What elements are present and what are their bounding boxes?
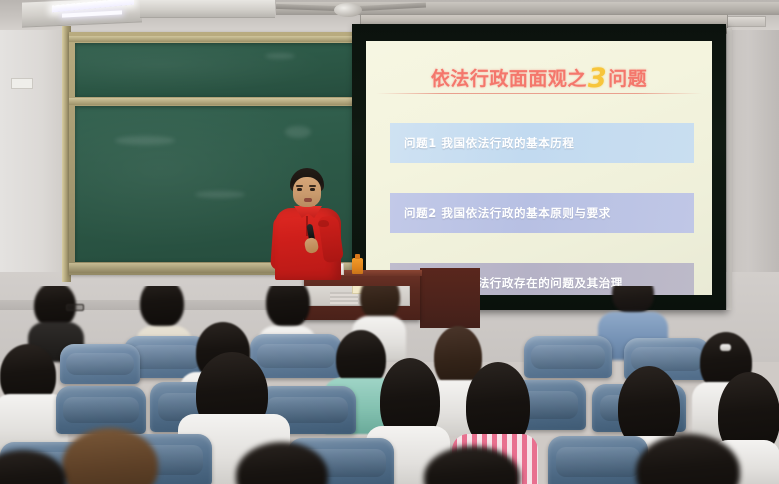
slide-title-suffix: 问题 (608, 68, 647, 90)
chalk-smudge (115, 136, 175, 145)
projection-screen: 依法行政面面观之3问题 问题1 我国依法行政的基本历程 问题2 我国依法行政的基… (352, 24, 726, 310)
fluorescent-light-fixture (140, 0, 275, 18)
eyeglasses-icon (66, 304, 84, 311)
slide-title-main: 依法行政面面观之 (431, 68, 587, 90)
slide-bullet-box-2: 问题2 我国依法行政的基本原则与要求 (390, 193, 694, 233)
auditorium-seat (60, 344, 140, 384)
slide-title-divider (376, 93, 702, 94)
slide-title-number: 3 (587, 63, 608, 94)
ceiling-fan-icon (334, 3, 362, 17)
presenter-shirt-logo (318, 220, 329, 227)
hair-clip-icon (720, 344, 731, 351)
presenter-eyebrow (309, 185, 316, 187)
student-head (266, 286, 310, 328)
auditorium-seat (56, 386, 146, 434)
auditorium-seat (250, 334, 342, 378)
auditorium-seat (548, 436, 648, 484)
chalk-smudge (285, 126, 311, 138)
student-head (140, 286, 184, 328)
podium-orange-bottle (352, 258, 363, 274)
blackboard-panel-upper (75, 43, 360, 97)
presenter-mouth (304, 198, 312, 202)
presenter-face (293, 177, 321, 207)
classroom-photo-scene: 依法行政面面观之3问题 问题1 我国依法行政的基本历程 问题2 我国依法行政的基… (0, 0, 779, 484)
screen-side-trim (727, 28, 732, 310)
slide-bullet-box-1: 问题1 我国依法行政的基本历程 (390, 123, 694, 163)
slide-bullet-text-1: 问题1 我国依法行政的基本历程 (404, 135, 575, 151)
blackboard-rail-top (69, 36, 366, 42)
audience-area (0, 286, 779, 484)
auditorium-seat (524, 336, 612, 378)
slide-title: 依法行政面面观之3问题 (366, 63, 712, 94)
chalk-smudge (195, 191, 245, 198)
presenter-eyebrow (296, 185, 303, 187)
blackboard-name-card (11, 78, 33, 89)
blackboard-rail-middle (69, 98, 366, 105)
slide-surface: 依法行政面面观之3问题 问题1 我国依法行政的基本历程 问题2 我国依法行政的基… (366, 41, 712, 295)
presenter-eye (297, 188, 302, 191)
chalk-smudge (265, 53, 295, 59)
student-head (612, 286, 654, 314)
student-head (360, 286, 400, 320)
presenter-eye (310, 188, 315, 191)
slide-bullet-text-2: 问题2 我国依法行政的基本原则与要求 (404, 205, 611, 221)
presenter (272, 168, 344, 280)
